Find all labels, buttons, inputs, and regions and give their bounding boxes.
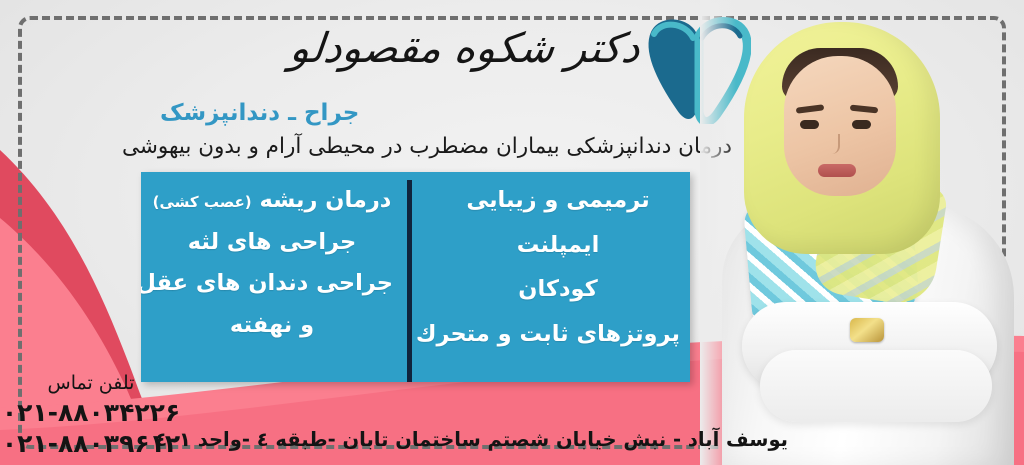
phone-number-1[interactable]: ۰۲۱-۸۸۰۳۴۲۲۶: [0, 398, 182, 429]
column-divider: [407, 180, 412, 382]
service-label: درمان ریشه: [260, 187, 392, 213]
specialty-label: جراح ـ دندانپزشک: [160, 100, 540, 126]
service-item: ایمپلنت: [432, 227, 684, 264]
service-item: جراحی دندان های عقل: [147, 265, 397, 302]
service-item: و نهفته: [147, 307, 397, 344]
services-column-right: ترمیمی و زیبایی ایمپلنت کودکان پروتزهای …: [432, 182, 684, 360]
service-item: پروتزهای ثابت و متحرك: [432, 316, 684, 353]
service-item: کودکان: [432, 271, 684, 308]
phone-label: تلفن تماس: [0, 372, 182, 394]
photo-wristwatch: [850, 318, 884, 342]
photo-arm-lower: [760, 350, 992, 422]
service-sublabel: (عصب کشی): [153, 193, 252, 211]
services-panel: ترمیمی و زیبایی ایمپلنت کودکان پروتزهای …: [141, 172, 690, 382]
photo-lips: [818, 164, 856, 177]
clinic-address: یوسف آباد - نبش خیابان شصتم ساختمان تابا…: [232, 428, 788, 451]
doctor-name: دکتر شکوه مقصودلو: [297, 24, 642, 72]
clinic-banner: دکتر شکوه مقصودلو جراح ـ دندانپزشک درمان…: [0, 0, 1024, 465]
doctor-photo: [700, 0, 1024, 465]
service-item: ترمیمی و زیبایی: [432, 182, 684, 219]
photo-edge-fade: [700, 0, 736, 465]
tagline-text: درمان دندانپزشکی بیماران مضطرب در محیطی …: [100, 134, 732, 159]
service-item: جراحی های لثه: [147, 224, 397, 261]
photo-eye-left: [800, 120, 819, 129]
photo-eye-right: [852, 120, 871, 129]
service-item: درمان ریشه (عصب کشی): [147, 182, 397, 219]
services-column-left: درمان ریشه (عصب کشی) جراحی های لثه جراحی…: [147, 182, 397, 348]
